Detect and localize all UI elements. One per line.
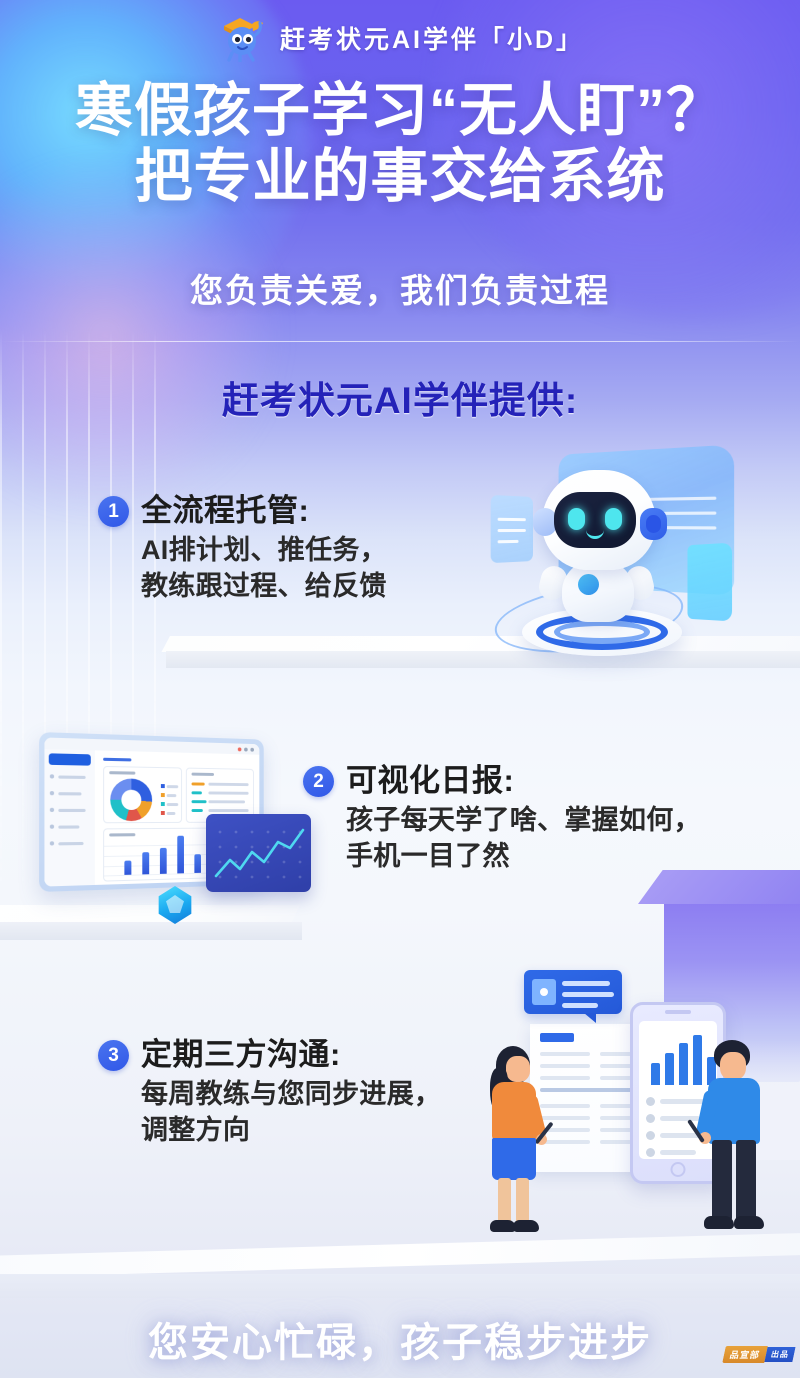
promotional-poster: 赶考状元AI学伴「小D」 寒假孩子学习“无人盯”？ 把专业的事交给系统 您负责关… [0, 0, 800, 1378]
robot-base-ring-inner [554, 620, 650, 644]
feature-body-3-line-2: 调整方向 [141, 1113, 441, 1149]
feature-badge-1: 1 [98, 496, 129, 527]
dashboard-line-chart-card [206, 814, 311, 892]
robot-eye-left [568, 508, 585, 530]
person-parent-male [698, 1040, 782, 1236]
divider-line [0, 341, 800, 342]
brand-logo-text: 赶考状元AI学伴「小D」 [280, 20, 584, 56]
feature-title-2: 可视化日报: [346, 762, 514, 799]
robot-head [542, 470, 656, 570]
brand-logo-bar: 赶考状元AI学伴「小D」 [0, 12, 800, 64]
headline-line-2: 把专业的事交给系统 [0, 144, 800, 210]
chat-bubble [524, 970, 622, 1014]
dashboard-donut-card [103, 766, 182, 823]
ai-robot-mascot-illustration [470, 448, 760, 668]
section-header-text: 赶考状元AI学伴提供: [0, 370, 800, 424]
headline-line-1: 寒假孩子学习“无人盯”？ [0, 78, 800, 144]
stamp-suffix-label: 出品 [764, 1347, 795, 1362]
feature-body-1-line-2: 教练跟过程、给反馈 [141, 569, 387, 605]
feature-title-3: 定期三方沟通: [141, 1036, 341, 1073]
robot-face-visor [554, 492, 636, 548]
platform-slab-bottom [0, 1256, 800, 1296]
feature-item-1: 1 全流程托管: AI排计划、推任务， 教练跟过程、给反馈 [98, 492, 387, 605]
dashboard-analytics-illustration [28, 730, 318, 930]
robot-screen-right [687, 543, 732, 622]
robot-mouth [586, 530, 604, 539]
headline-block: 寒假孩子学习“无人盯”？ 把专业的事交给系统 [0, 78, 800, 210]
subtitle-text: 您负责关爱，我们负责过程 [0, 264, 800, 312]
robot-ear-right [640, 508, 667, 540]
robot-chest-light [578, 574, 599, 595]
decor-gem-icon [156, 886, 194, 924]
feature-item-3: 3 定期三方沟通: 每周教练与您同步进展， 调整方向 [98, 1036, 441, 1149]
feature-body-2-line-2: 手机一目了然 [346, 839, 701, 875]
robot-eye-right [605, 508, 622, 530]
feature-badge-3: 3 [98, 1040, 129, 1071]
department-stamp: 品宣部 出品 [722, 1346, 796, 1363]
graduation-blob-mascot-icon [216, 14, 270, 62]
person-coach-female [480, 1046, 560, 1236]
robot-screen-left [491, 495, 533, 563]
feature-title-1: 全流程托管: [141, 492, 309, 529]
dashboard-sidebar [44, 749, 94, 887]
stamp-department-label: 品宣部 [722, 1346, 768, 1363]
feature-item-2: 2 可视化日报: 孩子每天学了啥、掌握如何， 手机一目了然 [303, 762, 701, 875]
feature-body-3-line-1: 每周教练与您同步进展， [141, 1077, 441, 1113]
feature-body-2-line-1: 孩子每天学了啥、掌握如何， [346, 803, 701, 839]
footer-slogan: 您安心忙碌，孩子稳步进步 [0, 1310, 800, 1368]
feature-body-1-line-1: AI排计划、推任务， [141, 533, 387, 569]
three-party-meeting-illustration [462, 958, 792, 1258]
